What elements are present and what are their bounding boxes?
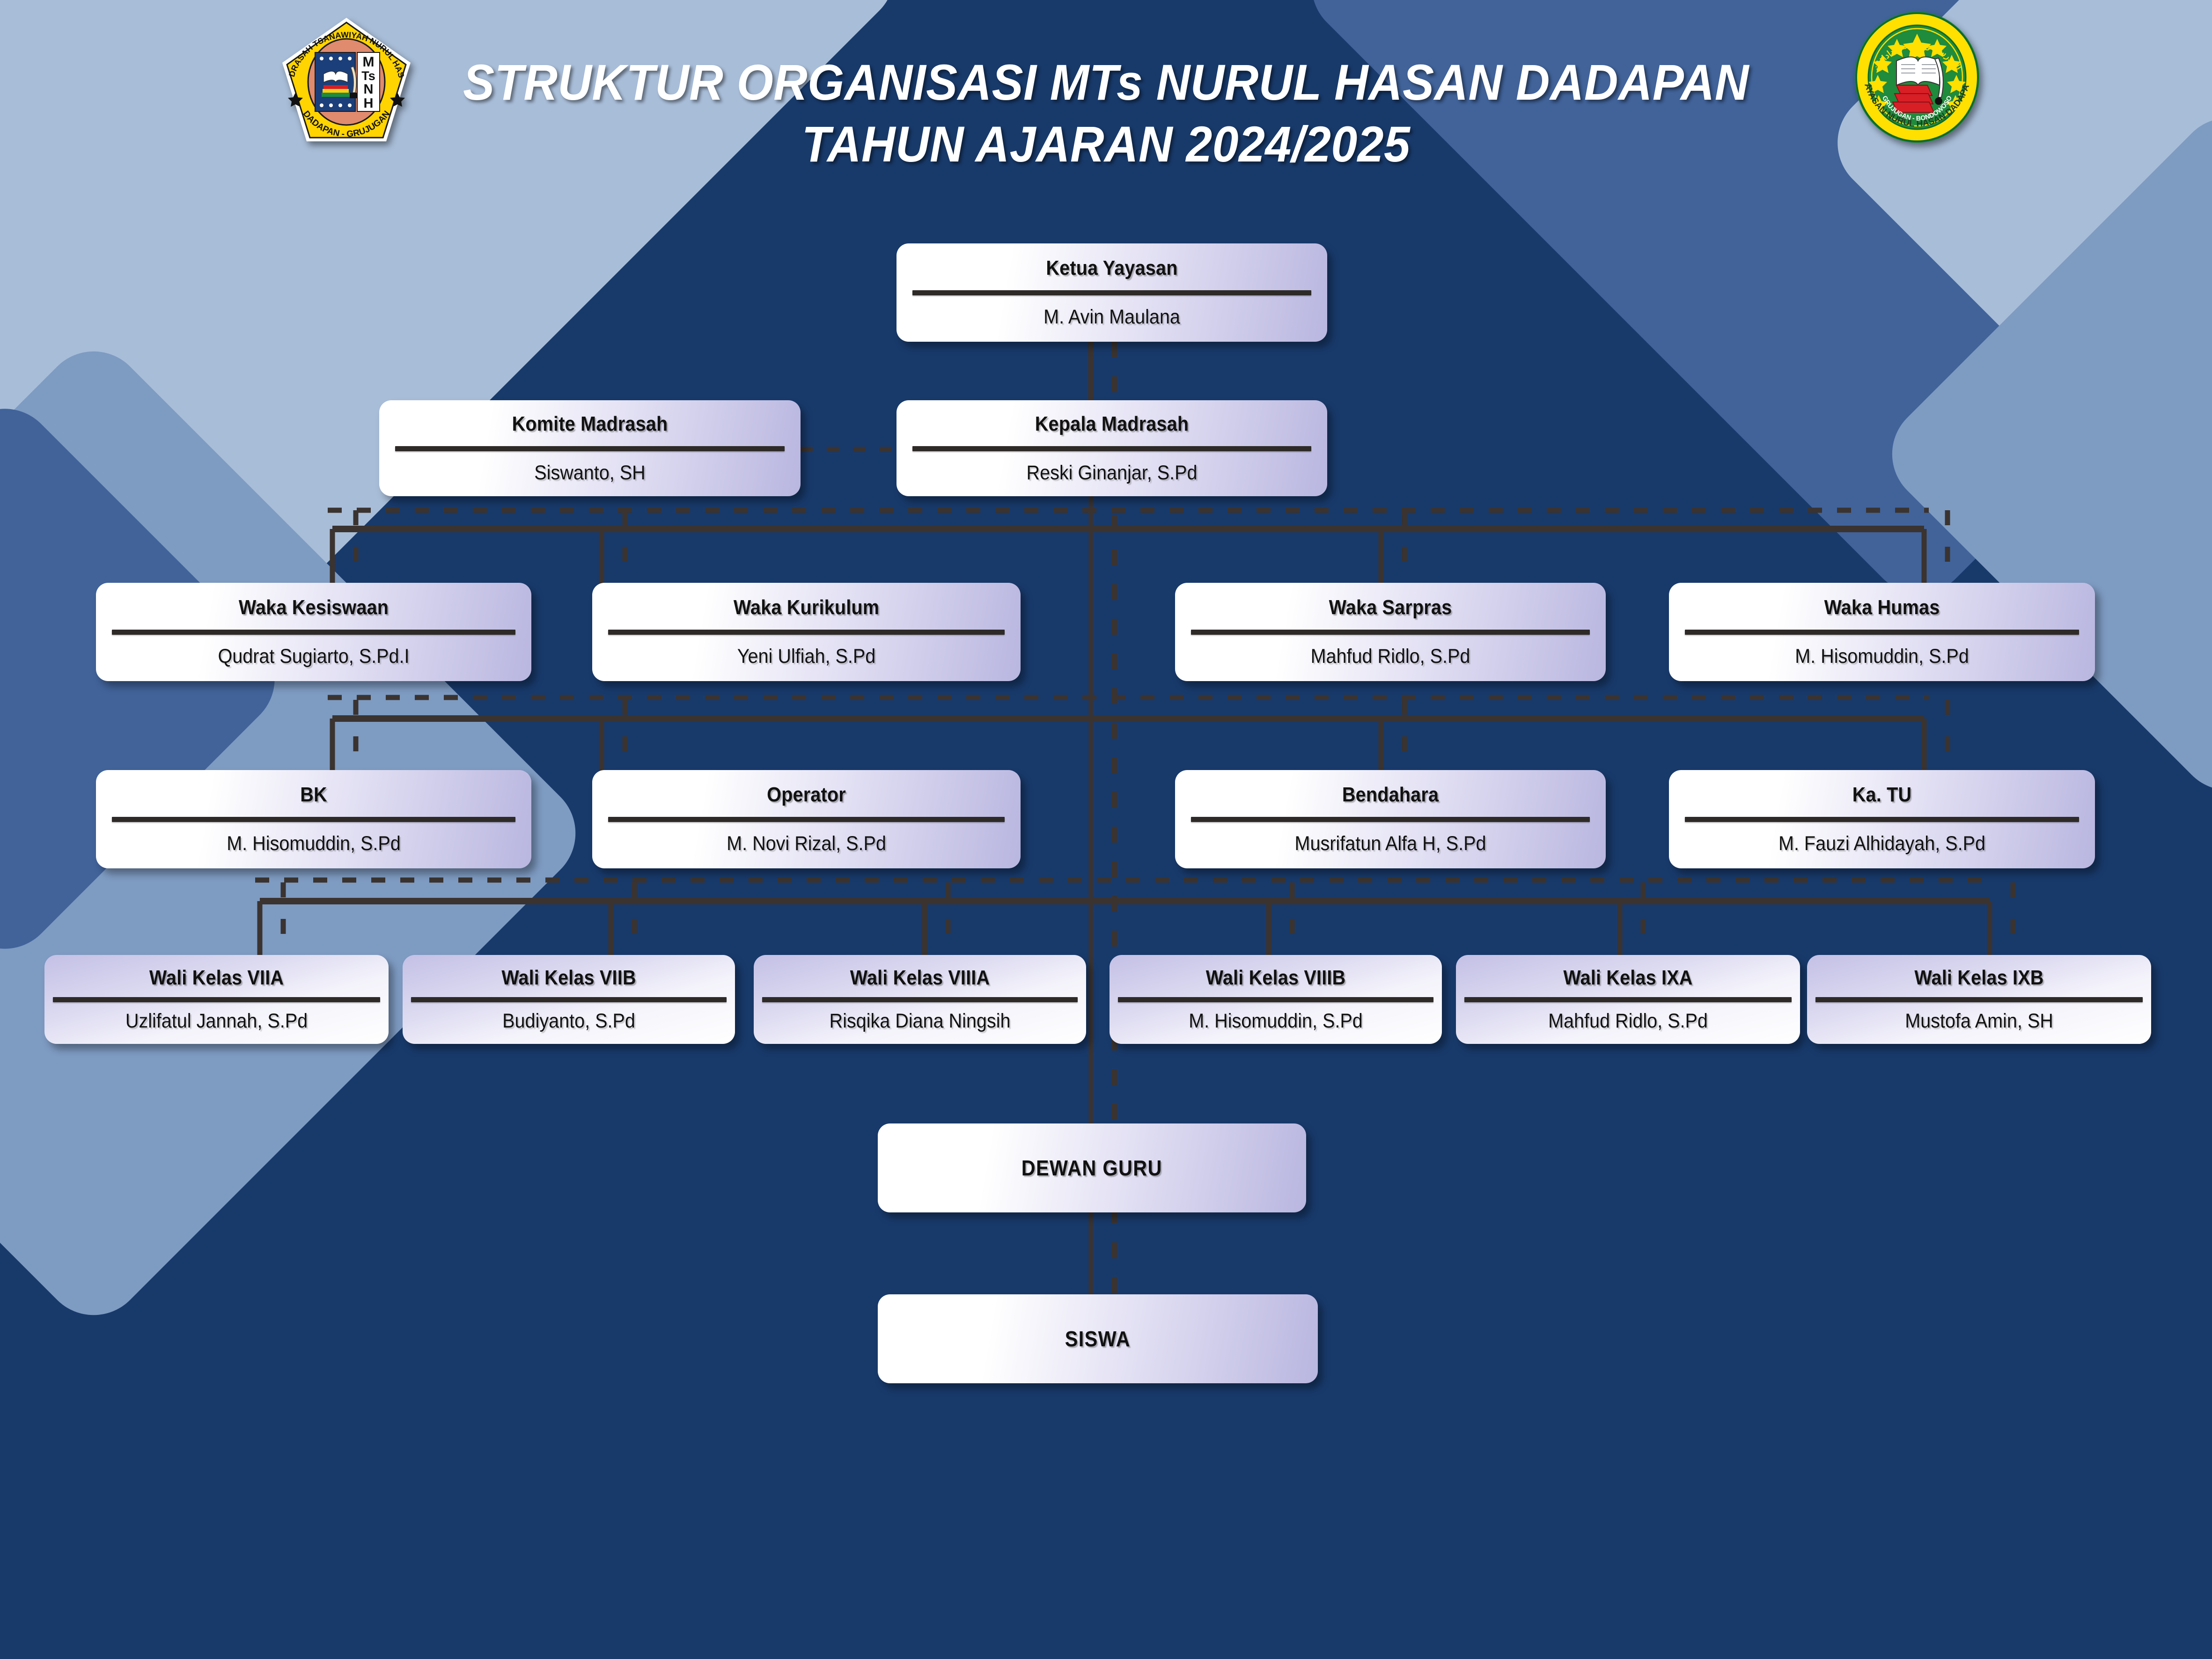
node-title: Waka Sarpras — [1211, 596, 1570, 619]
node-divider — [1464, 997, 1792, 1002]
node-divider — [762, 997, 1078, 1002]
node-person-name: M. Avin Maulana — [928, 306, 1295, 329]
node-divider — [112, 817, 515, 822]
node-title: Wali Kelas VIIB — [427, 966, 711, 990]
node-title: Ketua Yayasan — [933, 257, 1292, 280]
node-waka-kesiswaan[interactable]: Waka Kesiswaan Qudrat Sugiarto, S.Pd.I — [96, 583, 531, 681]
node-bk[interactable]: BK M. Hisomuddin, S.Pd — [96, 770, 531, 868]
node-ketua-yayasan[interactable]: Ketua Yayasan M. Avin Maulana — [897, 243, 1327, 342]
node-bendahara[interactable]: Bendahara Musrifatun Alfa H, S.Pd — [1175, 770, 1606, 868]
node-person-name: Mahfud Ridlo, S.Pd — [1477, 1010, 1778, 1033]
node-title: DEWAN GURU — [1021, 1155, 1162, 1181]
node-title: Waka Kesiswaan — [132, 596, 495, 619]
node-divider — [1685, 817, 2079, 822]
node-person-name: Reski Ginanjar, S.Pd — [928, 462, 1295, 484]
node-divider — [395, 446, 785, 451]
node-kepala-madrasah[interactable]: Kepala Madrasah Reski Ginanjar, S.Pd — [897, 400, 1327, 496]
node-title: SISWA — [1065, 1326, 1131, 1351]
node-dewan-guru[interactable]: DEWAN GURU — [878, 1123, 1306, 1212]
node-divider — [411, 997, 727, 1002]
node-waka-kurikulum[interactable]: Waka Kurikulum Yeni Ulfiah, S.Pd — [592, 583, 1021, 681]
node-person-name: Musrifatun Alfa H, S.Pd — [1207, 832, 1574, 855]
node-title: Waka Humas — [1705, 596, 2059, 619]
node-divider — [1815, 997, 2143, 1002]
node-wali-kelas-ixb[interactable]: Wali Kelas IXB Mustofa Amin, SH — [1807, 955, 2151, 1044]
svg-text:N: N — [364, 82, 374, 97]
node-person-name: Budiyanto, S.Pd — [424, 1010, 714, 1033]
node-title: Wali Kelas IXB — [1832, 966, 2126, 990]
node-wali-kelas-ixa[interactable]: Wali Kelas IXA Mahfud Ridlo, S.Pd — [1456, 955, 1800, 1044]
node-divider — [1191, 817, 1590, 822]
node-title: Bendahara — [1211, 783, 1570, 807]
node-title: Komite Madrasah — [415, 412, 765, 436]
node-komite-madrasah[interactable]: Komite Madrasah Siswanto, SH — [379, 400, 801, 496]
node-wali-kelas-viiia[interactable]: Wali Kelas VIIIA Risqika Diana Ningsih — [754, 955, 1086, 1044]
node-person-name: Mahfud Ridlo, S.Pd — [1207, 645, 1574, 668]
node-title: BK — [132, 783, 495, 807]
node-wali-kelas-viia[interactable]: Wali Kelas VIIA Uzlifatul Jannah, S.Pd — [44, 955, 389, 1044]
node-person-name: M. Novi Rizal, S.Pd — [624, 832, 989, 855]
node-person-name: Qudrat Sugiarto, S.Pd.I — [128, 645, 499, 668]
node-title: Wali Kelas VIIIA — [778, 966, 1062, 990]
node-person-name: Mustofa Amin, SH — [1829, 1010, 2130, 1033]
node-title: Ka. TU — [1705, 783, 2059, 807]
node-divider — [912, 446, 1311, 451]
svg-text:Ts: Ts — [361, 69, 375, 83]
node-title: Operator — [628, 783, 985, 807]
node-divider — [1118, 997, 1433, 1002]
node-wali-kelas-viiib[interactable]: Wali Kelas VIIIB M. Hisomuddin, S.Pd — [1110, 955, 1442, 1044]
node-divider — [1191, 630, 1590, 635]
node-ka-tu[interactable]: Ka. TU M. Fauzi Alhidayah, S.Pd — [1669, 770, 2095, 868]
node-divider — [1685, 630, 2079, 635]
node-divider — [608, 817, 1005, 822]
svg-text:H: H — [364, 96, 374, 111]
node-wali-kelas-viib[interactable]: Wali Kelas VIIB Budiyanto, S.Pd — [403, 955, 735, 1044]
node-person-name: Siswanto, SH — [411, 462, 769, 484]
org-chart-poster: STRUKTUR ORGANISASI MTs NURUL HASAN DADA… — [0, 0, 2212, 1659]
node-operator[interactable]: Operator M. Novi Rizal, S.Pd — [592, 770, 1021, 868]
node-person-name: M. Hisomuddin, S.Pd — [1701, 645, 2064, 668]
node-title: Wali Kelas VIIIB — [1134, 966, 1418, 990]
mts-nurul-hasan-crest-icon: M Ts N H MADRASAH TSANAWIYAH NURUL HASAN… — [279, 14, 414, 154]
node-divider — [912, 290, 1311, 295]
node-person-name: M. Hisomuddin, S.Pd — [1131, 1010, 1421, 1033]
node-waka-humas[interactable]: Waka Humas M. Hisomuddin, S.Pd — [1669, 583, 2095, 681]
node-title: Wali Kelas VIIA — [69, 966, 364, 990]
node-person-name: Yeni Ulfiah, S.Pd — [624, 645, 989, 668]
node-waka-sarpras[interactable]: Waka Sarpras Mahfud Ridlo, S.Pd — [1175, 583, 1606, 681]
node-person-name: Uzlifatul Jannah, S.Pd — [66, 1010, 367, 1033]
svg-text:M: M — [363, 54, 375, 70]
node-divider — [53, 997, 380, 1002]
node-divider — [608, 630, 1005, 635]
node-title: Wali Kelas IXA — [1481, 966, 1775, 990]
node-title: Waka Kurikulum — [628, 596, 985, 619]
node-person-name: M. Fauzi Alhidayah, S.Pd — [1701, 832, 2064, 855]
node-siswa[interactable]: SISWA — [878, 1294, 1318, 1383]
node-title: Kepala Madrasah — [933, 412, 1292, 436]
node-divider — [112, 630, 515, 635]
node-person-name: Risqika Diana Ningsih — [775, 1010, 1065, 1033]
yayasan-nurul-hasan-seal-icon: المدرسة نور الحسن دادافان YAYASAN NURUL … — [1852, 9, 1983, 145]
node-person-name: M. Hisomuddin, S.Pd — [128, 832, 499, 855]
